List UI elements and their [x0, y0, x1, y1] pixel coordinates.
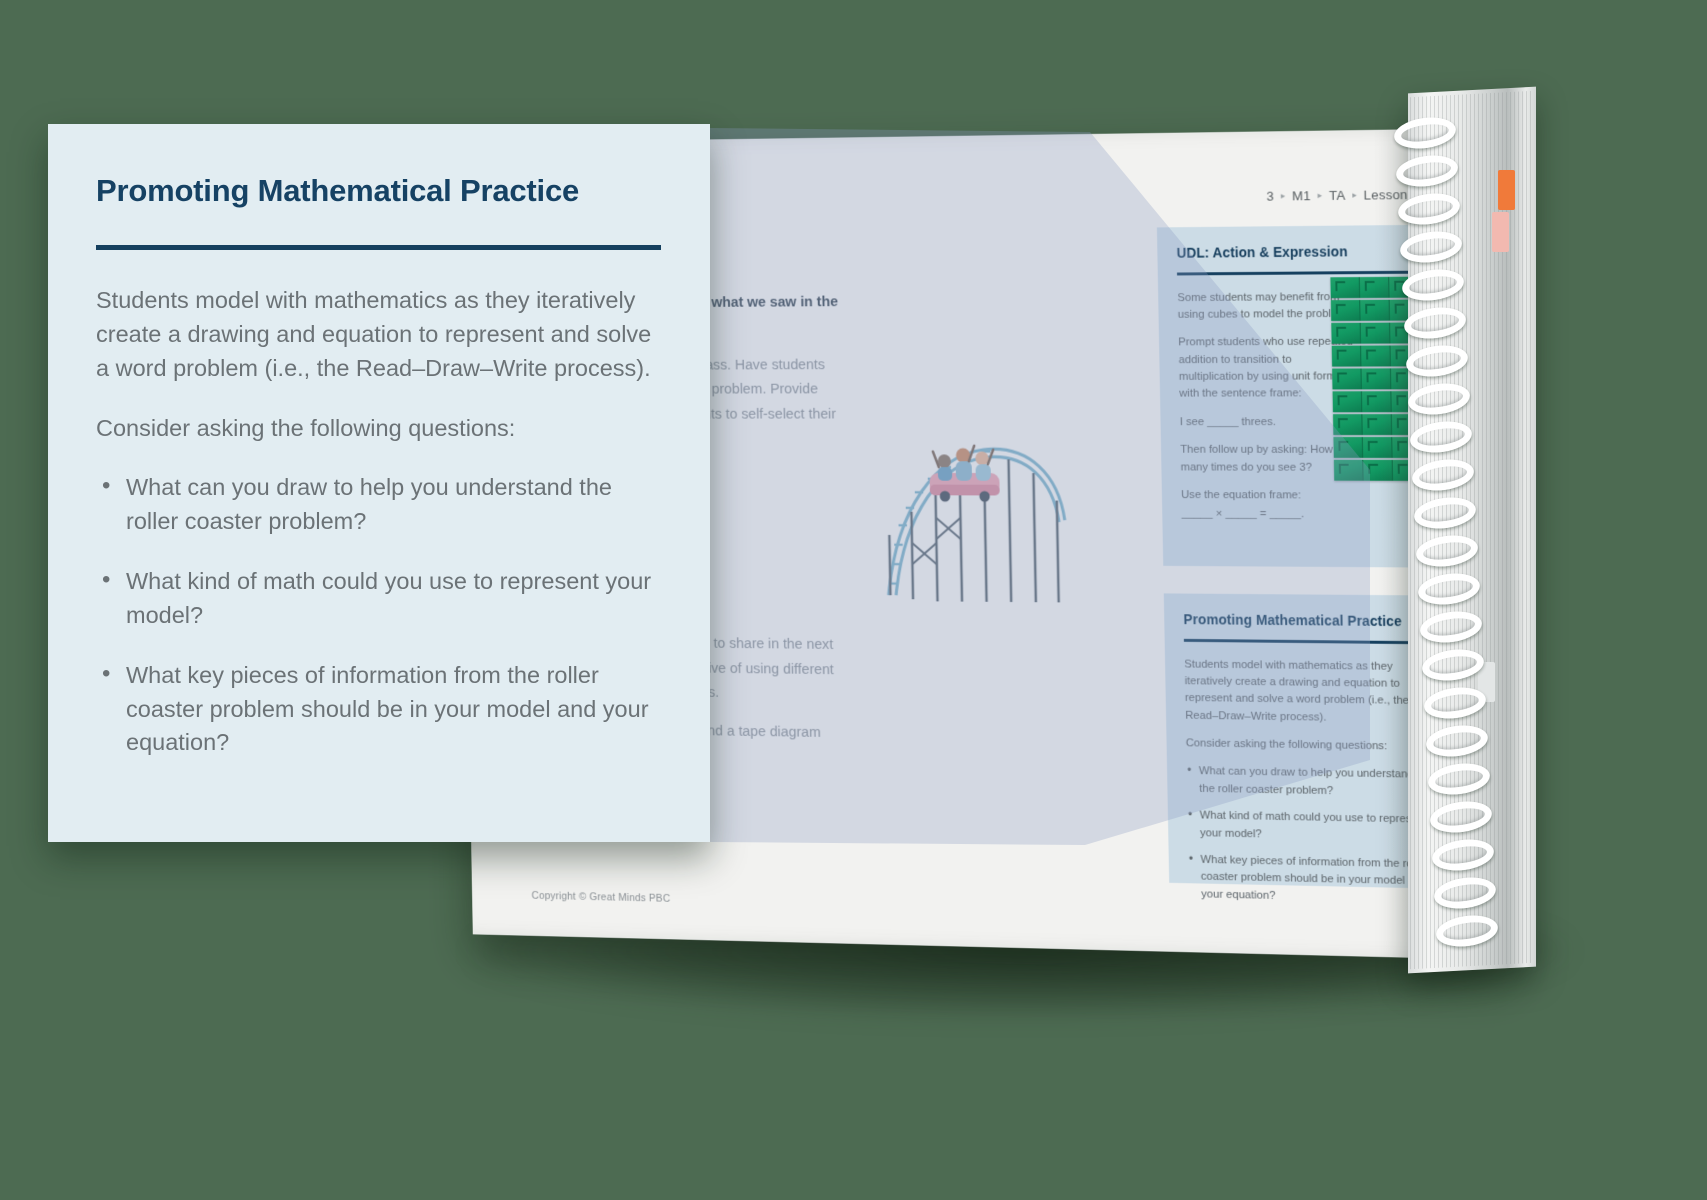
chevron-right-icon: ▸ [1281, 191, 1286, 202]
udl-paragraph-1: Some students may benefit from using cub… [1177, 288, 1352, 323]
list-item: What kind of math could you use to repre… [96, 565, 664, 633]
udl-sentence-frame: I see _____ threes. [1180, 413, 1355, 430]
coil-ring [1424, 722, 1490, 760]
coil-ring [1398, 228, 1464, 266]
sidebar-udl-body: Some students may benefit from using cub… [1177, 288, 1356, 524]
list-item: What can you draw to help you understand… [96, 471, 664, 539]
callout-question-list: What can you draw to help you understand… [96, 471, 664, 760]
spiral-binding [1380, 90, 1580, 970]
coil-ring [1394, 152, 1460, 190]
wire-coil [1380, 90, 1580, 970]
unit-cube [1332, 368, 1362, 389]
coil-ring [1396, 190, 1462, 228]
chevron-right-icon: ▸ [1318, 190, 1323, 201]
coil-ring [1404, 342, 1470, 380]
unit-cube [1333, 437, 1363, 458]
coil-ring [1428, 798, 1494, 836]
coil-ring [1432, 874, 1498, 912]
coil-ring [1430, 836, 1496, 874]
callout-title: Promoting Mathematical Practice [96, 174, 664, 208]
callout-rule [96, 245, 661, 250]
unit-cube [1332, 346, 1362, 367]
list-item: What key pieces of information from the … [96, 659, 664, 760]
copyright-notice: Copyright © Great Minds PBC [531, 890, 670, 905]
coil-ring [1408, 418, 1474, 456]
udl-equation-frame-label: Use the equation frame: [1181, 486, 1356, 504]
unit-cube [1331, 300, 1361, 321]
unit-cube [1333, 414, 1363, 435]
udl-paragraph-3: Then follow up by asking: How many times… [1180, 441, 1356, 476]
coil-ring [1416, 570, 1482, 608]
coil-ring [1426, 760, 1492, 798]
coil-ring [1418, 608, 1484, 646]
unit-cube [1334, 460, 1364, 481]
coil-ring [1402, 304, 1468, 342]
coil-ring [1420, 646, 1486, 684]
chevron-right-icon: ▸ [1352, 190, 1357, 201]
screenshot-stage: 3 ▸ M1 ▸ TA ▸ Lesson 5 coaster? tions we… [0, 0, 1707, 1200]
udl-paragraph-2: Prompt students who use repeated additio… [1178, 333, 1354, 402]
coil-ring [1414, 532, 1480, 570]
breadcrumb-grade: 3 [1266, 189, 1274, 204]
unit-cube [1330, 277, 1360, 298]
breadcrumb-topic: TA [1329, 188, 1346, 203]
udl-equation-frame: _____ × _____ = _____. [1181, 505, 1356, 523]
promoting-mathematical-practice-callout: Promoting Mathematical Practice Students… [48, 124, 710, 842]
coil-ring [1400, 266, 1466, 304]
coil-ring [1406, 380, 1472, 418]
coil-ring [1392, 114, 1458, 152]
callout-paragraph-2: Consider asking the following questions: [96, 412, 664, 446]
coil-ring [1422, 684, 1488, 722]
coil-ring [1410, 456, 1476, 494]
unit-cube [1333, 391, 1363, 412]
coil-ring [1412, 494, 1478, 532]
callout-body: Students model with mathematics as they … [96, 284, 664, 760]
roller-coaster-illustration [878, 418, 1099, 604]
callout-paragraph-1: Students model with mathematics as they … [96, 284, 664, 385]
coil-ring [1434, 912, 1500, 950]
breadcrumb-module: M1 [1292, 188, 1311, 203]
unit-cube [1331, 323, 1361, 344]
